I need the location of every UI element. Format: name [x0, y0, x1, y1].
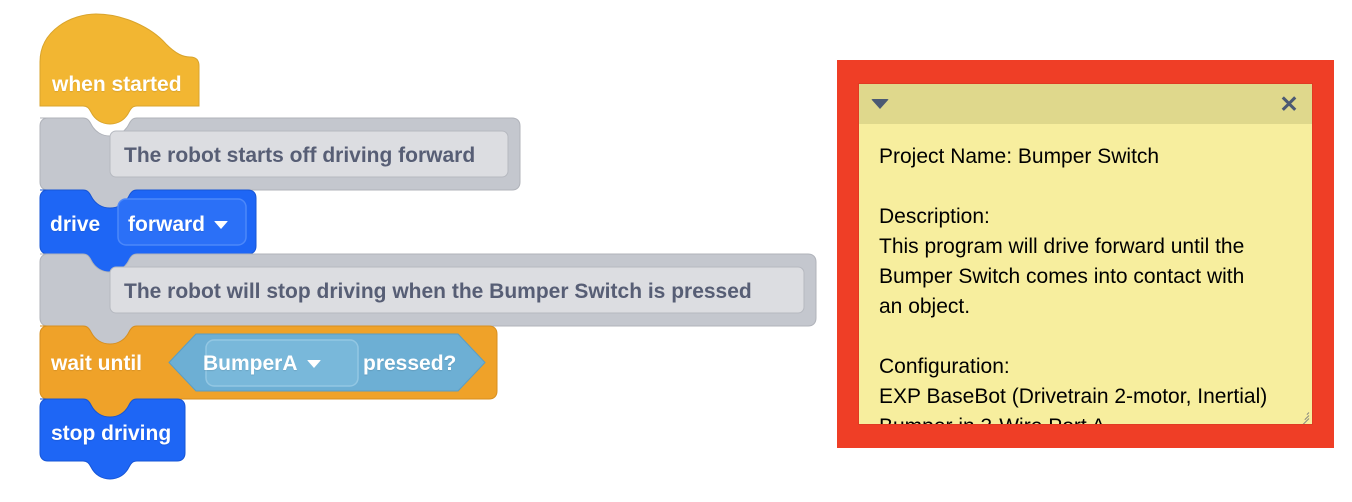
script-stack[interactable] [0, 0, 830, 490]
project-note-header[interactable]: ✕ [859, 84, 1312, 124]
comment-block-1[interactable] [40, 118, 520, 208]
project-note-text[interactable]: Project Name: Bumper Switch Description:… [859, 124, 1312, 424]
bumper-select-dropdown[interactable] [206, 340, 358, 386]
bumper-pressed-boolean[interactable] [169, 334, 485, 391]
comment-text-field[interactable] [110, 267, 804, 313]
triangle-down-icon[interactable] [871, 99, 889, 109]
when-started-block[interactable] [40, 14, 199, 124]
project-note-panel[interactable]: ✕ Project Name: Bumper Switch Descriptio… [837, 60, 1334, 448]
drive-direction-dropdown[interactable] [118, 199, 246, 245]
project-note-paper[interactable]: ✕ Project Name: Bumper Switch Descriptio… [859, 84, 1312, 424]
blocks-workspace[interactable]: when started The robot starts off drivin… [0, 0, 1352, 502]
resize-handle-icon[interactable] [1298, 410, 1310, 422]
comment-text-field[interactable] [110, 131, 508, 177]
close-icon[interactable]: ✕ [1276, 91, 1302, 117]
